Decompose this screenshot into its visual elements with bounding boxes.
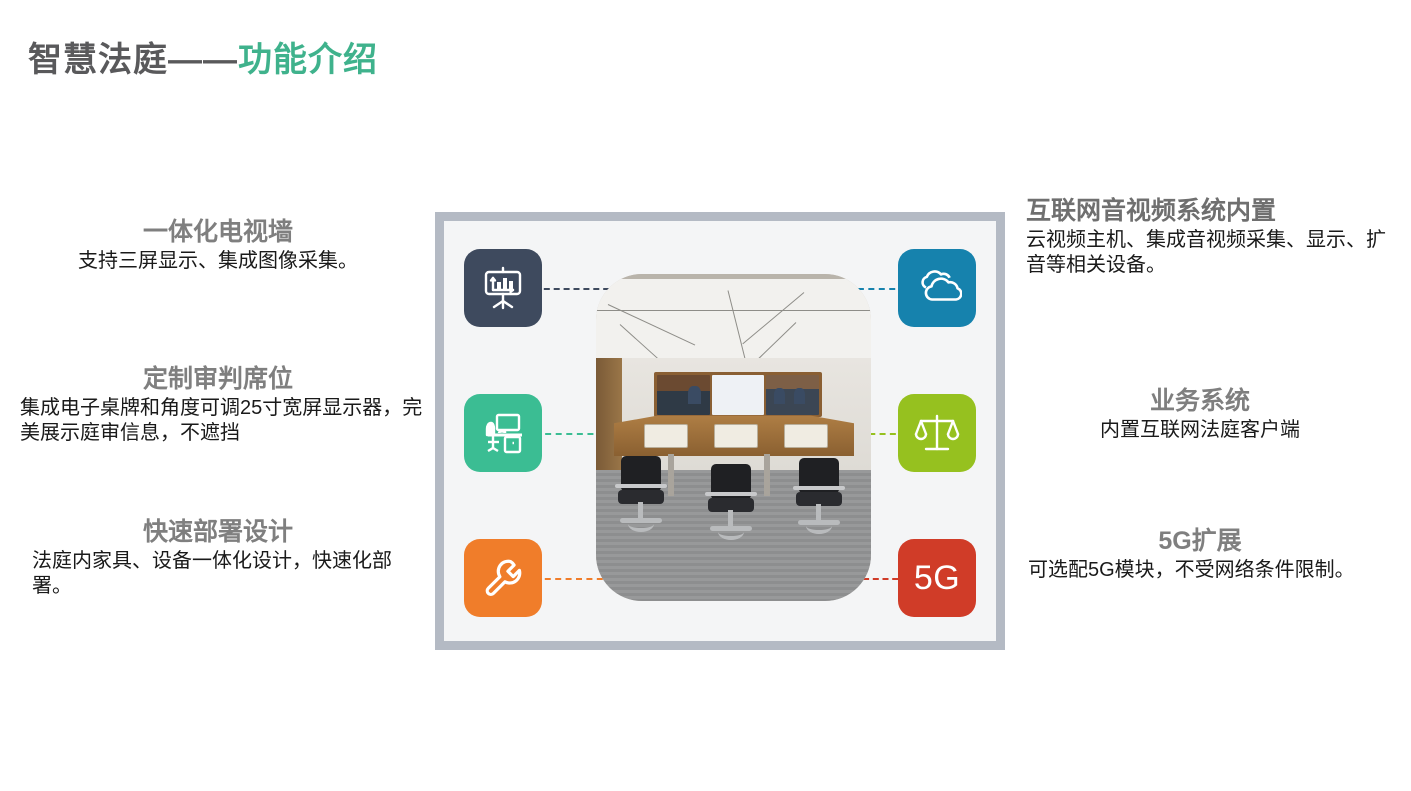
feature-right-av-system: 互联网音视频系统内置 云视频主机、集成音视频采集、显示、扩音等相关设备。 <box>1026 197 1401 279</box>
feature-body: 内置互联网法庭客户端 <box>1000 418 1400 444</box>
presentation-chart-icon <box>480 265 526 311</box>
icon-tile-scales[interactable] <box>898 394 976 472</box>
center-diagram-panel: 5G <box>444 221 996 641</box>
page-title: 智慧法庭——功能介绍 <box>28 40 378 81</box>
feature-title: 一体化电视墙 <box>8 218 428 247</box>
photo-chair <box>704 464 758 542</box>
feature-body: 支持三屏显示、集成图像采集。 <box>8 249 428 275</box>
feature-title: 快速部署设计 <box>8 518 428 547</box>
wrench-icon <box>480 555 526 601</box>
feature-right-business-system: 业务系统 内置互联网法庭客户端 <box>1000 387 1400 443</box>
feature-body: 云视频主机、集成音视频采集、显示、扩音等相关设备。 <box>1026 228 1401 279</box>
feature-body: 可选配5G模块，不受网络条件限制。 <box>1000 558 1400 584</box>
icon-tile-5g[interactable]: 5G <box>898 539 976 617</box>
icon-tile-desk[interactable] <box>464 394 542 472</box>
feature-left-bench: 定制审判席位 集成电子桌牌和角度可调25寸宽屏显示器，完美展示庭审信息，不遮挡 <box>8 365 428 447</box>
feature-body: 法庭内家具、设备一体化设计，快速化部署。 <box>8 549 428 600</box>
icon-tile-wrench[interactable] <box>464 539 542 617</box>
courtroom-photo <box>596 274 871 601</box>
photo-chair <box>614 456 668 534</box>
photo-chair <box>792 458 846 536</box>
feature-title: 5G扩展 <box>1000 527 1400 556</box>
feature-title: 业务系统 <box>1000 387 1400 416</box>
page-title-main: 智慧法庭—— <box>28 41 238 79</box>
five-g-text-icon: 5G <box>914 559 960 598</box>
icon-tile-cloud[interactable] <box>898 249 976 327</box>
feature-title: 定制审判席位 <box>8 365 428 394</box>
scales-of-justice-icon <box>914 410 960 456</box>
desk-workstation-icon <box>479 409 527 457</box>
center-diagram-frame: 5G <box>435 212 1005 650</box>
feature-title: 互联网音视频系统内置 <box>1026 197 1401 226</box>
feature-body: 集成电子桌牌和角度可调25寸宽屏显示器，完美展示庭审信息，不遮挡 <box>8 396 428 447</box>
feature-right-5g: 5G扩展 可选配5G模块，不受网络条件限制。 <box>1000 527 1400 583</box>
feature-left-tv-wall: 一体化电视墙 支持三屏显示、集成图像采集。 <box>8 218 428 274</box>
cloud-icon <box>912 265 962 311</box>
page-title-accent: 功能介绍 <box>238 41 378 79</box>
photo-ceiling <box>596 274 871 360</box>
feature-left-deployment: 快速部署设计 法庭内家具、设备一体化设计，快速化部署。 <box>8 518 428 600</box>
icon-tile-tv-wall[interactable] <box>464 249 542 327</box>
